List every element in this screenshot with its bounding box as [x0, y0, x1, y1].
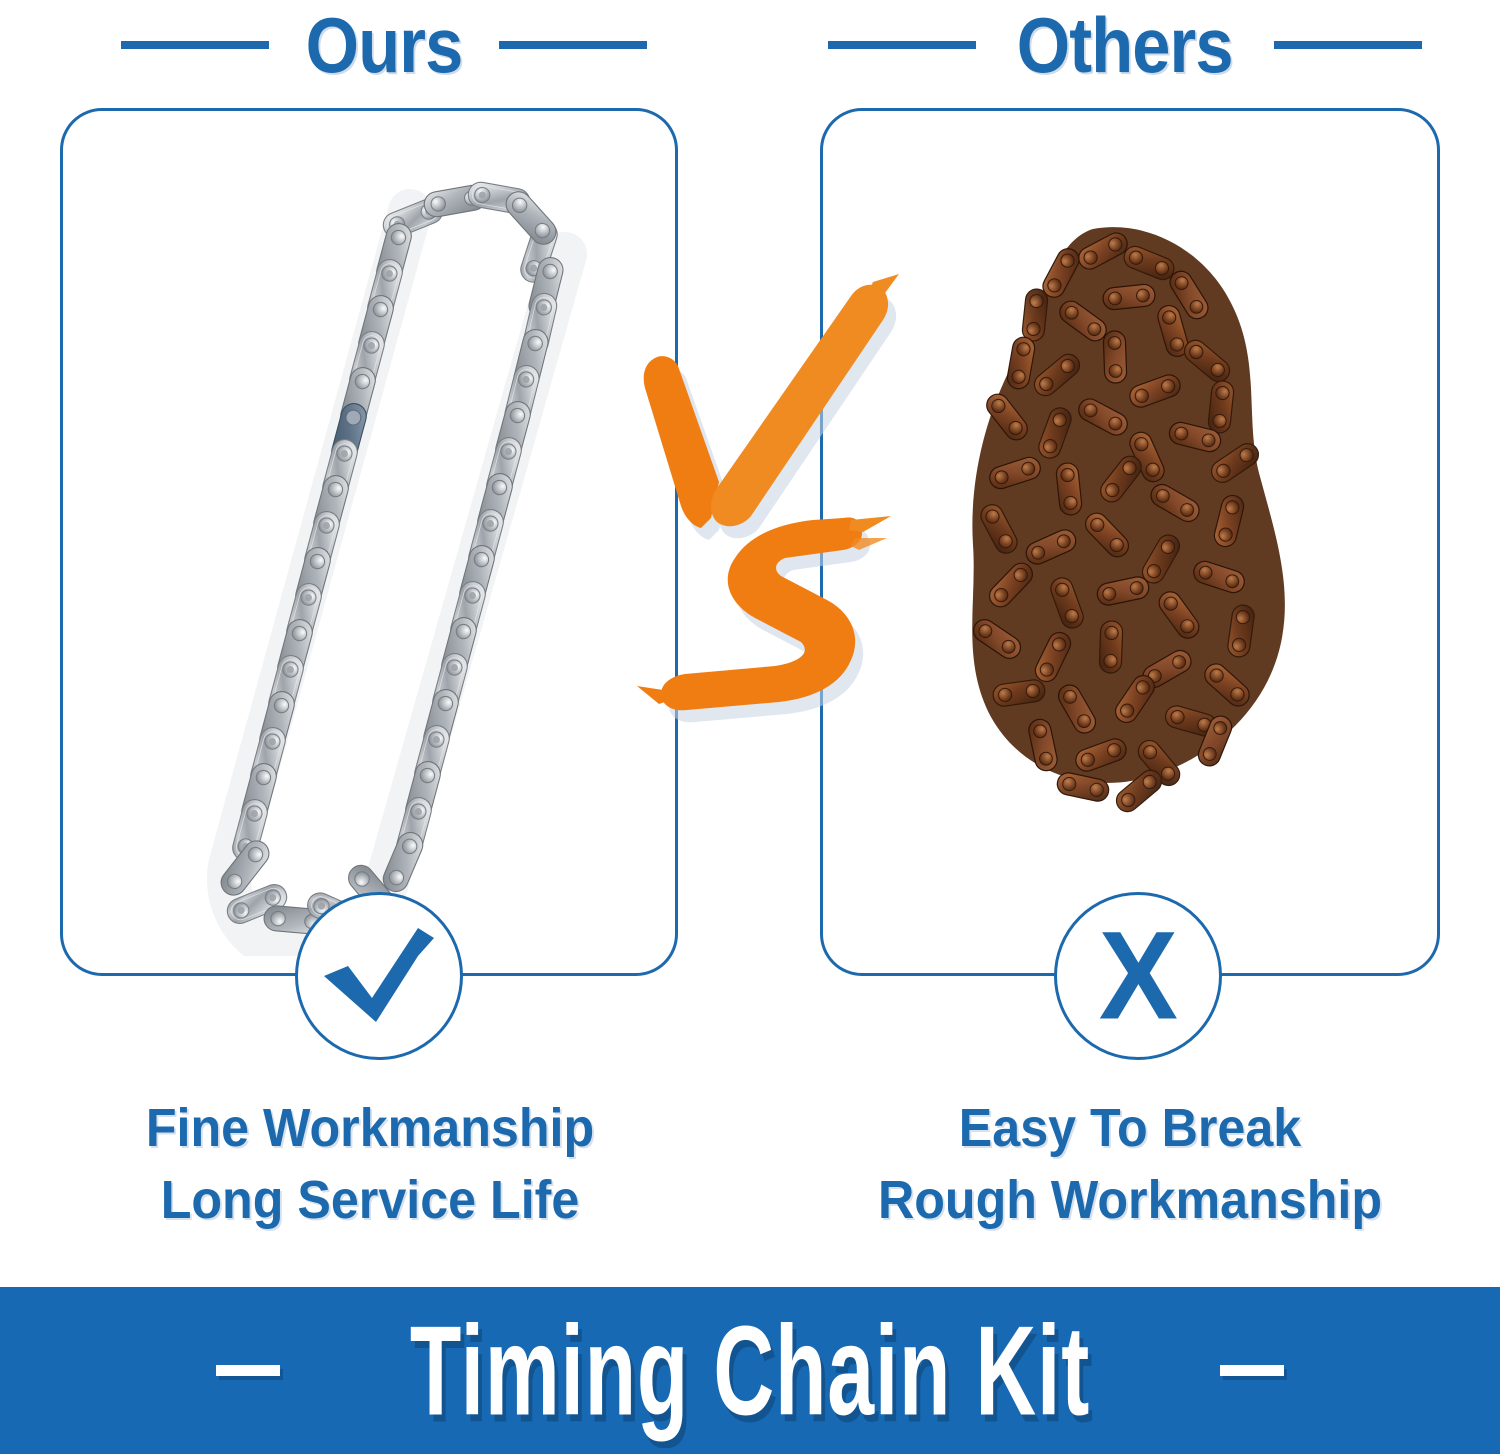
rusted-tangled-chain-image	[943, 211, 1323, 831]
banner-rule-left-icon	[216, 1365, 280, 1376]
header-rule-left-icon	[828, 41, 976, 49]
caption-others-line1: Easy To Break	[840, 1092, 1420, 1164]
header-others-title: Others	[1017, 5, 1233, 85]
x-icon: X	[1098, 913, 1177, 1038]
header-ours-title: Ours	[306, 5, 463, 85]
silver-timing-chain-image	[103, 156, 663, 956]
caption-ours: Fine Workmanship Long Service Life	[82, 1092, 659, 1236]
banner-rule-right-icon	[1220, 1365, 1284, 1376]
header-others: Others	[750, 0, 1500, 90]
header-rule-left-icon	[121, 41, 269, 49]
caption-others-line2: Rough Workmanship	[840, 1164, 1420, 1236]
check-icon	[320, 926, 438, 1026]
header-rule-right-icon	[499, 41, 647, 49]
bottom-banner: Timing Chain Kit	[0, 1287, 1500, 1454]
ours-image-stage	[63, 111, 675, 973]
others-image-stage	[823, 111, 1437, 973]
caption-ours-line2: Long Service Life	[82, 1164, 659, 1236]
card-ours	[60, 108, 678, 976]
header-ours: Ours	[0, 0, 750, 90]
caption-others: Easy To Break Rough Workmanship	[840, 1092, 1420, 1236]
caption-ours-line1: Fine Workmanship	[82, 1092, 659, 1164]
vs-brushstroke-icon	[615, 270, 905, 735]
banner-title: Timing Chain Kit	[410, 1304, 1090, 1436]
header-rule-right-icon	[1274, 41, 1422, 49]
card-others	[820, 108, 1440, 976]
x-badge: X	[1054, 892, 1222, 1060]
check-badge	[295, 892, 463, 1060]
